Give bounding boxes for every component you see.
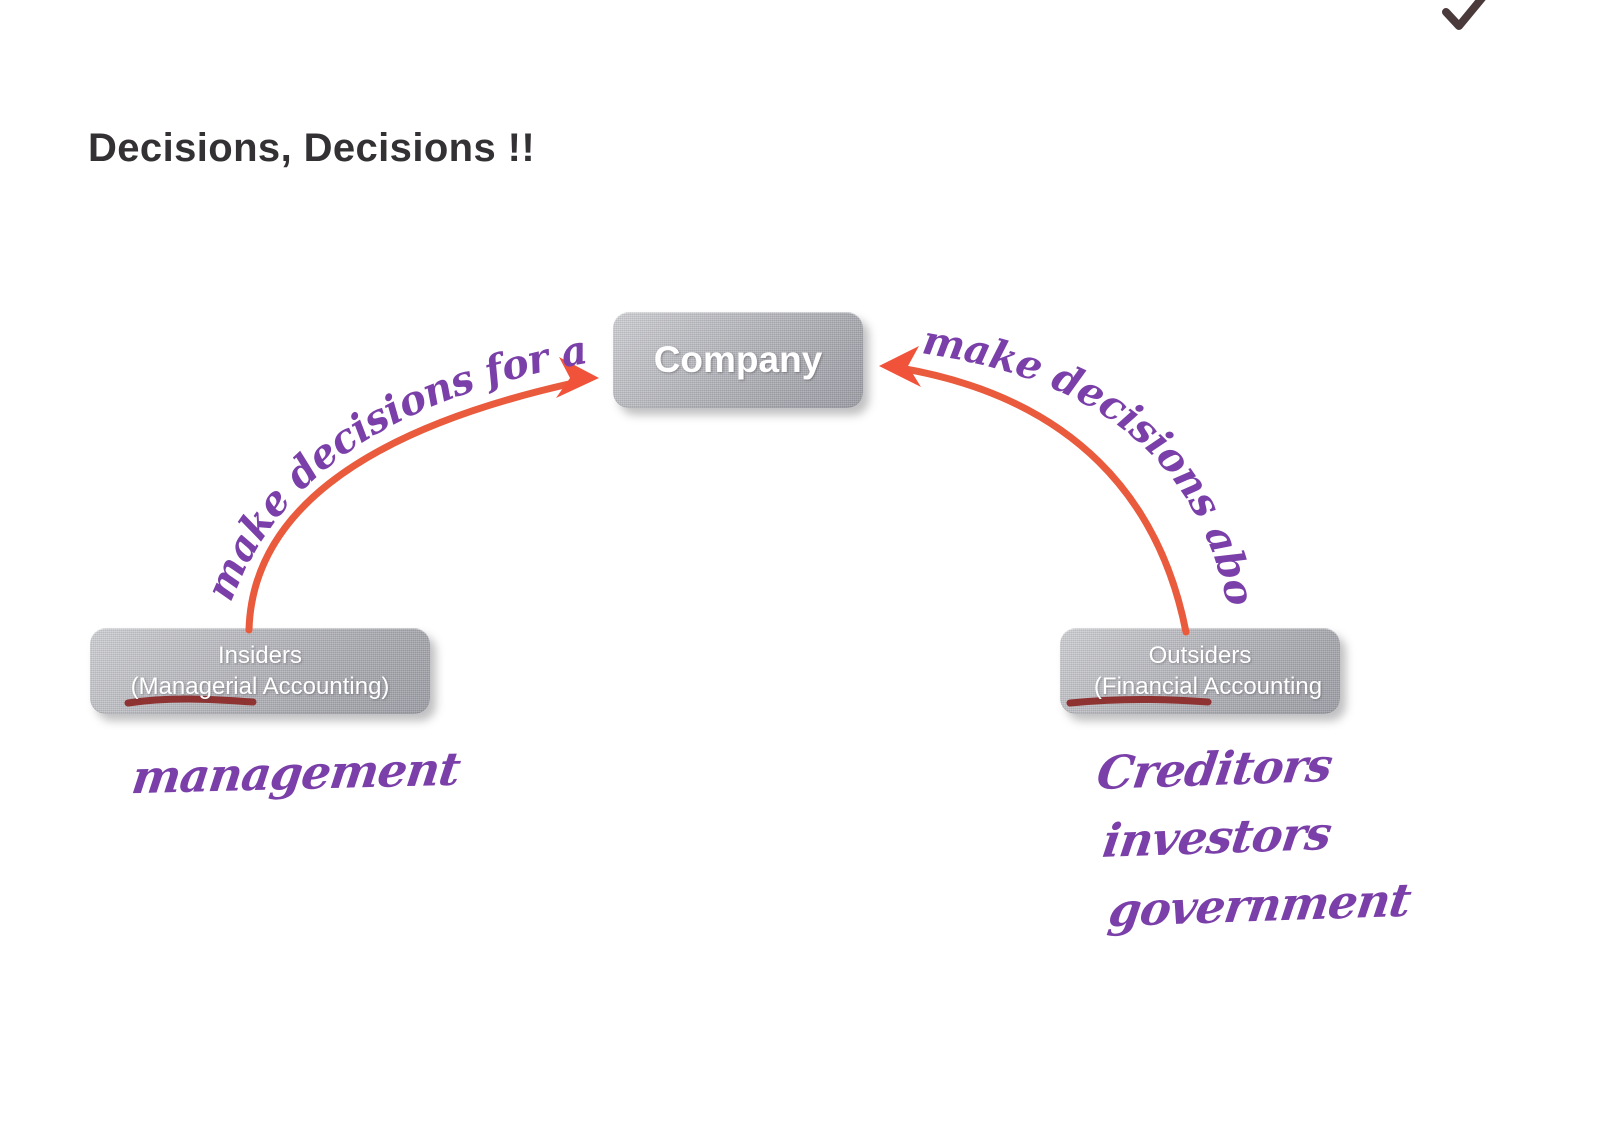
handwritten-note-management: management xyxy=(129,742,463,805)
curve-label-right: make decisions about a company xyxy=(0,0,1264,610)
page-title: Decisions, Decisions !! xyxy=(88,126,535,171)
slide-canvas: Decisions, Decisions !! Company Insiders… xyxy=(0,0,1600,1146)
node-insiders-label: Insiders xyxy=(218,640,302,671)
arrowhead-right-icon xyxy=(556,357,599,398)
arrow-insiders-to-company xyxy=(249,382,578,630)
curve-label-left-text: make decisions for a company xyxy=(0,0,591,607)
handwritten-note-investors: investors xyxy=(1100,806,1335,868)
annotation-overlay: make decisions for a company make decisi… xyxy=(0,0,1600,1146)
handwritten-note-government: government xyxy=(1105,873,1413,937)
curve-label-left: make decisions for a company xyxy=(0,0,591,607)
handwritten-note-creditors: Creditors xyxy=(1094,738,1336,800)
node-outsiders-label: Outsiders xyxy=(1149,640,1252,671)
node-outsiders-sublabel: (Financial Accounting xyxy=(1094,671,1322,702)
node-insiders[interactable]: Insiders (Managerial Accounting) xyxy=(90,628,430,714)
node-company[interactable]: Company xyxy=(613,312,863,408)
curve-label-right-text: make decisions about a company xyxy=(0,0,1264,610)
node-company-label: Company xyxy=(654,339,823,381)
node-outsiders[interactable]: Outsiders (Financial Accounting xyxy=(1060,628,1340,714)
node-insiders-sublabel: (Managerial Accounting) xyxy=(131,671,390,702)
arrowhead-left-icon xyxy=(879,346,921,387)
check-mark-icon xyxy=(1446,0,1492,26)
arrow-outsiders-to-company xyxy=(900,368,1186,632)
